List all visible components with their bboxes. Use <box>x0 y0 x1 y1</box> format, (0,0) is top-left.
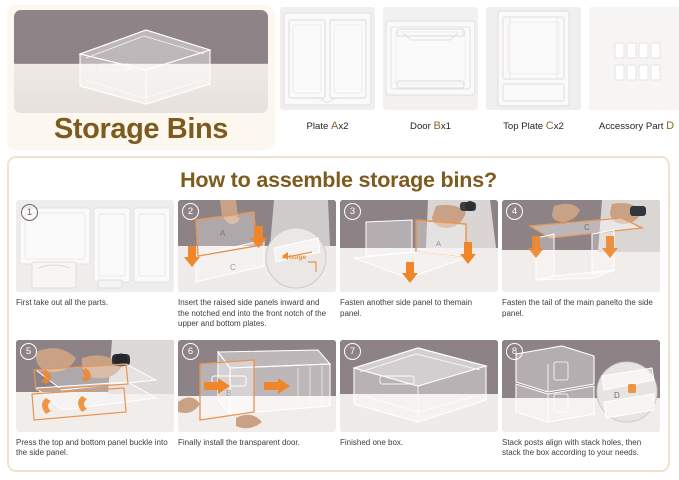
step-6-number: 6 <box>182 343 199 360</box>
step-5-illustration <box>16 340 174 432</box>
step-5-number: 5 <box>20 343 37 360</box>
svg-text:A: A <box>220 229 226 238</box>
step-4-number: 4 <box>506 203 523 220</box>
step-item-3: 3 A <box>340 200 502 330</box>
step-8-number: 8 <box>506 343 523 360</box>
part-a-image <box>280 7 375 110</box>
step-1-caption: First take out all the parts. <box>16 298 168 309</box>
step-2-number: 2 <box>182 203 199 220</box>
accessory-part-d-illustration <box>589 7 679 110</box>
product-header: Storage Bins Plate Ax2 <box>0 0 679 148</box>
step-2-caption: Insert the raised side panels inward and… <box>178 298 330 330</box>
step-6-image: 6 B <box>178 340 336 432</box>
step-8-caption: Stack posts align with stack holes, then… <box>502 438 654 459</box>
step-5-image: 5 <box>16 340 174 432</box>
step-item-5: 5 <box>16 340 178 459</box>
step-item-1: 1 First take out all the parts. <box>16 200 178 330</box>
part-c-label: Top Plate Cx2 <box>503 120 564 132</box>
part-item-d: Accessory Part D <box>589 7 679 145</box>
part-c-image <box>486 7 581 110</box>
step-4-image: 4 C <box>502 200 660 292</box>
svg-text:D: D <box>614 391 620 400</box>
step-4-illustration: C <box>502 200 660 292</box>
part-item-a: Plate Ax2 <box>280 7 375 145</box>
step-7-illustration <box>340 340 498 432</box>
top-plate-c-illustration <box>486 7 581 110</box>
hero-card: Storage Bins <box>7 5 275 150</box>
door-b-illustration <box>383 7 478 110</box>
step-1-illustration <box>16 200 174 292</box>
step-item-7: 7 Finished one box. <box>340 340 502 459</box>
part-item-c: Top Plate Cx2 <box>486 7 581 145</box>
svg-text:B: B <box>226 389 231 398</box>
svg-text:C: C <box>584 223 590 232</box>
part-item-b: Door Bx1 <box>383 7 478 145</box>
svg-text:A: A <box>436 239 441 248</box>
svg-text:C: C <box>230 263 236 272</box>
instructions-heading: How to assemble storage bins? <box>9 168 668 193</box>
svg-text:bulge: bulge <box>289 254 306 261</box>
step-7-image: 7 <box>340 340 498 432</box>
step-5-caption: Press the top and bottom panel buckle in… <box>16 438 168 459</box>
part-d-image <box>589 7 679 110</box>
step-6-caption: Finally install the transparent door. <box>178 438 330 449</box>
step-item-4: 4 C <box>502 200 664 330</box>
step-8-image: 8 <box>502 340 660 432</box>
step-2-illustration: A C bulge <box>178 200 336 292</box>
step-7-number: 7 <box>344 343 361 360</box>
steps-grid: 1 First take out all the parts. 2 <box>16 200 665 459</box>
step-item-8: 8 <box>502 340 664 459</box>
step-8-illustration: D <box>502 340 660 432</box>
step-6-illustration: B <box>178 340 336 432</box>
page-title: Storage Bins <box>7 109 275 150</box>
step-3-caption: Fasten another side panel to themain pan… <box>340 298 492 319</box>
step-item-6: 6 B <box>178 340 340 459</box>
storage-bin-illustration <box>74 24 216 108</box>
assembly-instructions-panel: How to assemble storage bins? 1 <box>7 156 670 472</box>
hero-product-photo <box>14 10 268 113</box>
step-3-number: 3 <box>344 203 361 220</box>
step-item-2: 2 A C <box>178 200 340 330</box>
step-2-image: 2 A C <box>178 200 336 292</box>
step-7-caption: Finished one box. <box>340 438 492 449</box>
part-b-image <box>383 7 478 110</box>
step-4-caption: Fasten the tail of the main panelto the … <box>502 298 654 319</box>
step-1-image <box>16 200 174 292</box>
step-1-number: 1 <box>21 204 38 221</box>
part-d-label: Accessory Part D <box>599 120 674 132</box>
step-3-image: 3 A <box>340 200 498 292</box>
part-b-label: Door Bx1 <box>410 120 451 132</box>
parts-list: Plate Ax2 Door Bx1 <box>280 7 673 145</box>
plate-a-illustration <box>280 7 375 110</box>
step-3-illustration: A <box>340 200 498 292</box>
part-a-label: Plate Ax2 <box>306 120 348 132</box>
